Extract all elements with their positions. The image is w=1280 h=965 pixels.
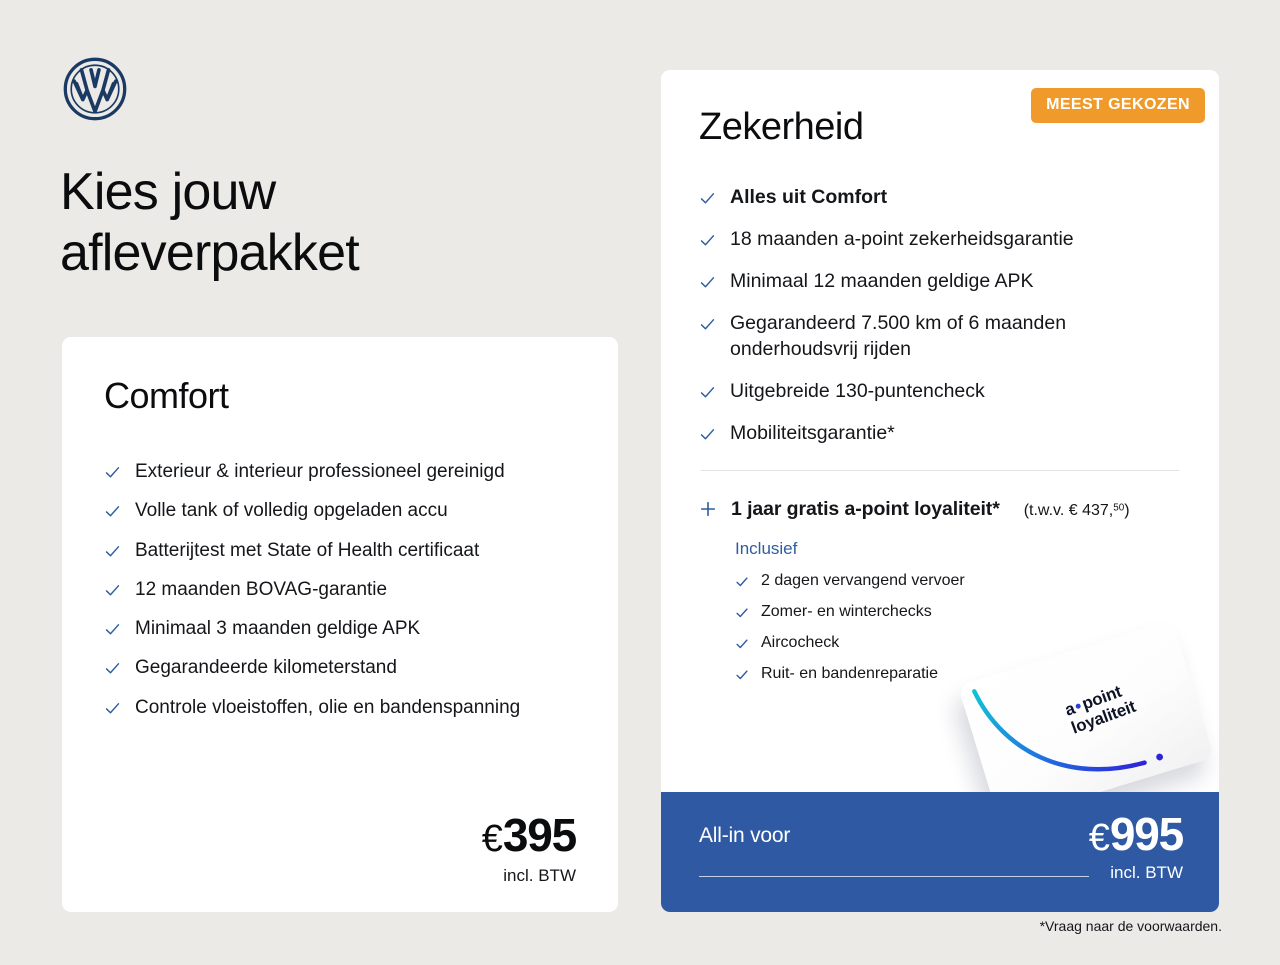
- check-icon: [735, 668, 749, 682]
- check-icon: [699, 426, 716, 443]
- list-item: Gegarandeerde kilometerstand: [104, 655, 576, 680]
- check-icon: [104, 503, 121, 520]
- list-item: Zomer- en winterchecks: [735, 602, 1181, 623]
- list-item: Uitgebreide 130-puntencheck: [699, 379, 1181, 405]
- footer-rule: [699, 876, 1089, 877]
- status-badge: MEEST GEKOZEN: [1031, 88, 1205, 123]
- price-value: 995: [1110, 808, 1183, 860]
- comfort-feature-list: Exterieur & interieur professioneel gere…: [104, 459, 576, 720]
- list-item: 12 maanden BOVAG-garantie: [104, 577, 576, 602]
- bonus-value-prefix: (t.w.v. € 437,: [1024, 502, 1114, 519]
- feature-text: Exterieur & interieur professioneel gere…: [135, 459, 505, 484]
- bonus-value-cents: 50: [1113, 503, 1124, 514]
- zekerheid-price: €995: [1089, 811, 1183, 857]
- poster-canvas: Kies jouw afleverpakket Comfort Exterieu…: [0, 0, 1280, 965]
- check-icon: [735, 637, 749, 651]
- comfort-vat-note: incl. BTW: [482, 866, 576, 886]
- check-icon: [104, 660, 121, 677]
- feature-text: 12 maanden BOVAG-garantie: [135, 577, 387, 602]
- package-card-comfort[interactable]: Comfort Exterieur & interieur profession…: [62, 337, 618, 912]
- volkswagen-logo: [62, 56, 128, 122]
- section-divider: [701, 470, 1179, 471]
- check-icon: [699, 384, 716, 401]
- currency-symbol: €: [1089, 817, 1110, 859]
- loyalty-dot-icon: [1075, 702, 1081, 708]
- inclusief-title: Inclusief: [735, 539, 1181, 559]
- bonus-row: 1 jaar gratis a-point loyaliteit* (t.w.v…: [699, 497, 1181, 521]
- inclusief-item-text: Ruit- en bandenreparatie: [761, 664, 938, 685]
- feature-text: Minimaal 3 maanden geldige APK: [135, 616, 420, 641]
- check-icon: [104, 582, 121, 599]
- list-item: Minimaal 12 maanden geldige APK: [699, 269, 1181, 295]
- page-title: Kies jouw afleverpakket: [60, 162, 620, 285]
- currency-symbol: €: [482, 818, 503, 860]
- footnote: *Vraag naar de voorwaarden.: [1040, 918, 1222, 934]
- check-icon: [699, 232, 716, 249]
- feature-text: Gegarandeerd 7.500 km of 6 maanden onder…: [730, 311, 1181, 363]
- list-item: Gegarandeerd 7.500 km of 6 maanden onder…: [699, 311, 1181, 363]
- check-icon: [699, 274, 716, 291]
- comfort-title: Comfort: [104, 375, 576, 417]
- check-icon: [104, 543, 121, 560]
- check-icon: [699, 190, 716, 207]
- list-item: Controle vloeistoffen, olie en bandenspa…: [104, 695, 576, 720]
- list-item: Volle tank of volledig opgeladen accu: [104, 498, 576, 523]
- comfort-price-block: €395 incl. BTW: [482, 812, 576, 886]
- feature-text: Gegarandeerde kilometerstand: [135, 655, 397, 680]
- feature-text: Uitgebreide 130-puntencheck: [730, 379, 985, 405]
- feature-text: Minimaal 12 maanden geldige APK: [730, 269, 1034, 295]
- plus-icon: [699, 500, 717, 518]
- comfort-price: €395: [482, 812, 576, 858]
- zekerheid-price-footer: All-in voor €995 incl. BTW: [661, 792, 1219, 912]
- zekerheid-feature-list: Alles uit Comfort 18 maanden a-point zek…: [699, 185, 1181, 446]
- check-icon: [104, 621, 121, 638]
- bonus-value-suffix: ): [1124, 502, 1129, 519]
- bonus-label: 1 jaar gratis a-point loyaliteit*: [731, 498, 1000, 521]
- list-item: Exterieur & interieur professioneel gere…: [104, 459, 576, 484]
- check-icon: [735, 575, 749, 589]
- price-value: 395: [503, 809, 576, 861]
- list-item: Minimaal 3 maanden geldige APK: [104, 616, 576, 641]
- list-item: Alles uit Comfort: [699, 185, 1181, 211]
- headline-line-2: afleverpakket: [60, 224, 359, 282]
- feature-text: Volle tank of volledig opgeladen accu: [135, 498, 448, 523]
- bonus-value: (t.w.v. € 437,50): [1024, 502, 1130, 520]
- zekerheid-vat-note: incl. BTW: [1110, 863, 1183, 883]
- inclusief-item-text: 2 dagen vervangend vervoer: [761, 571, 965, 592]
- feature-text: Alles uit Comfort: [730, 185, 887, 211]
- inclusief-item-text: Aircocheck: [761, 633, 839, 654]
- feature-text: Controle vloeistoffen, olie en bandenspa…: [135, 695, 520, 720]
- list-item: 18 maanden a-point zekerheidsgarantie: [699, 227, 1181, 253]
- list-item: Mobiliteitsgarantie*: [699, 421, 1181, 447]
- allin-label: All-in voor: [699, 824, 790, 848]
- feature-text: Mobiliteitsgarantie*: [730, 421, 895, 447]
- inclusief-item-text: Zomer- en winterchecks: [761, 602, 932, 623]
- headline-line-1: Kies jouw: [60, 163, 275, 221]
- package-card-zekerheid[interactable]: MEEST GEKOZEN Zekerheid Alles uit Comfor…: [661, 70, 1219, 912]
- list-item: Batterijtest met State of Health certifi…: [104, 538, 576, 563]
- feature-text: 18 maanden a-point zekerheidsgarantie: [730, 227, 1074, 253]
- feature-text: Batterijtest met State of Health certifi…: [135, 538, 479, 563]
- check-icon: [104, 700, 121, 717]
- list-item: 2 dagen vervangend vervoer: [735, 571, 1181, 592]
- check-icon: [699, 316, 716, 333]
- check-icon: [104, 464, 121, 481]
- check-icon: [735, 606, 749, 620]
